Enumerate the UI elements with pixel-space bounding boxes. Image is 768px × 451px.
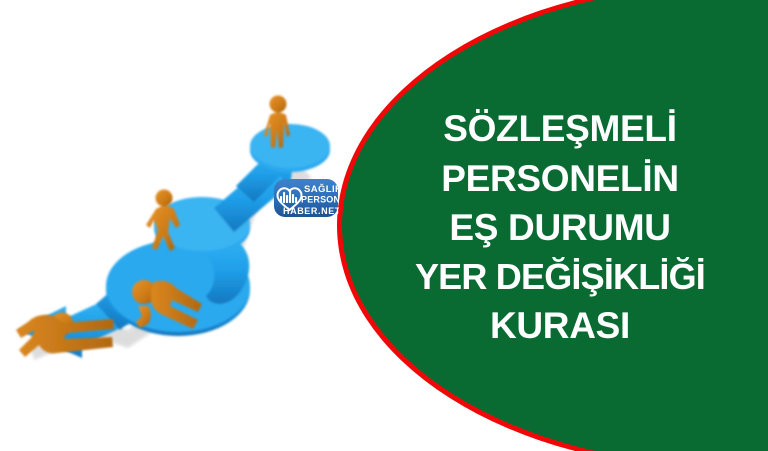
watermark-logo: SAĞLIK PERSONELİ HABER.NET [271,176,339,220]
headline-line-4: YER DEĞİŞİKLİĞİ [415,258,705,297]
watermark-line-2: PERSONELİ [301,195,339,205]
watermark-line-1: SAĞLIK [304,183,339,195]
news-banner: SÖZLEŞMELİ PERSONELİN EŞ DURUMU YER DEĞİ… [0,0,768,451]
headline-line-1: SÖZLEŞMELİ [443,109,676,149]
headline-line-2: PERSONELİN [441,159,679,199]
headline-line-5: KURASI [490,306,630,346]
headline-line-3: EŞ DURUMU [449,208,670,248]
watermark-line-3: HABER.NET [283,206,339,216]
headline-block: SÖZLEŞMELİ PERSONELİN EŞ DURUMU YER DEĞİ… [352,0,768,451]
illustration-stepped-arrow-path [0,0,360,451]
